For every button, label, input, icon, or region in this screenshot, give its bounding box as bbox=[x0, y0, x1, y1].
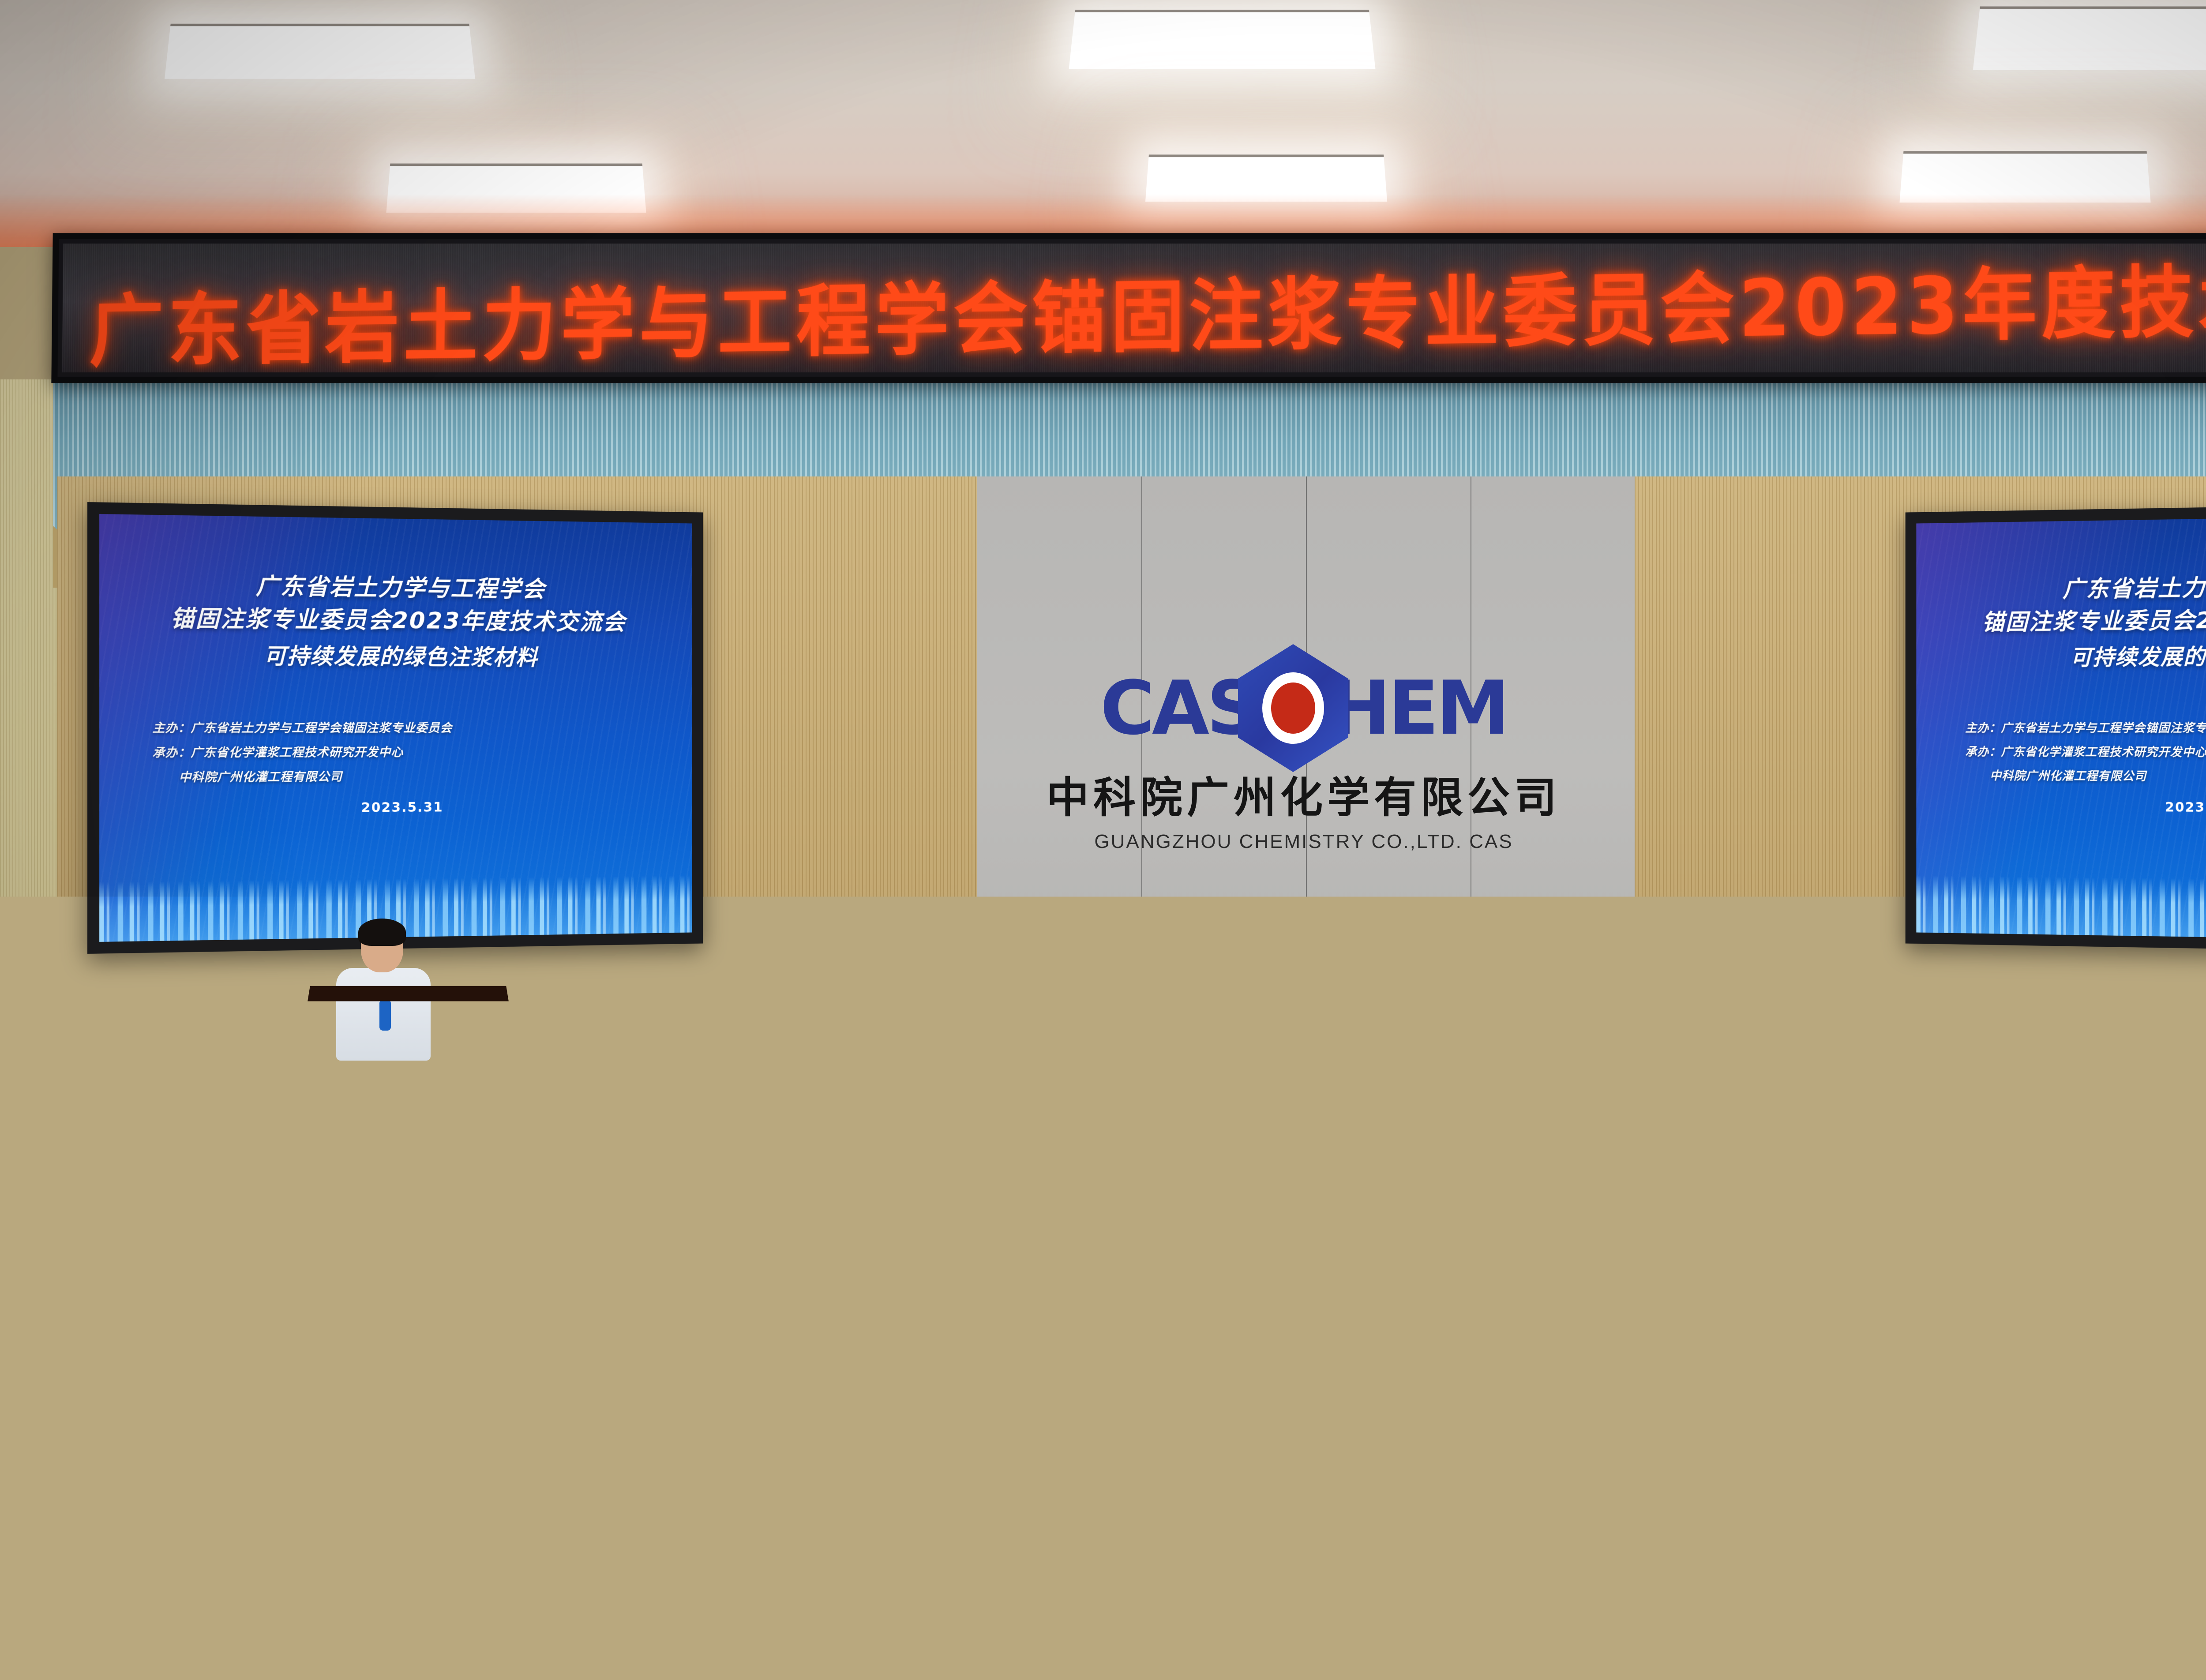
ceiling-light-1 bbox=[165, 24, 475, 79]
ceiling bbox=[0, 0, 2206, 247]
slide-organizer-2: 中科院广州化灌工程有限公司 bbox=[152, 764, 664, 791]
audience-head-3 bbox=[1068, 1394, 1156, 1504]
slide-subtitle: 可持续发展的绿色注浆材料 bbox=[264, 640, 538, 674]
slide-date: 2023.5.31 bbox=[130, 798, 664, 817]
projection-screen-right: 广东省岩土力学与工程学会 锚固注浆专业委员会2023年度技术交流会 可持续发展的… bbox=[1906, 502, 2206, 954]
podium-logo-text: CASCHEM bbox=[335, 1119, 481, 1138]
slide-title-line1-r: 广东省岩土力学与工程学会 bbox=[2063, 570, 2206, 606]
audience-head-1 bbox=[304, 1407, 388, 1509]
audience-head-4 bbox=[1712, 1403, 1796, 1504]
attendee-head-4 bbox=[1134, 1244, 1235, 1376]
attendee-head-2 bbox=[521, 1253, 618, 1385]
slide-meta-left: 主办：广东省岩土力学与工程学会锚固注浆专业委员会 承办：广东省化学灌浆工程技术研… bbox=[130, 716, 664, 790]
ceiling-light-2 bbox=[1069, 10, 1376, 69]
seat-label: 1排-14 bbox=[26, 1480, 203, 1493]
attendee-head-5 bbox=[1452, 1235, 1553, 1376]
seat-row1-14[interactable]: 1排-14 bbox=[26, 1376, 203, 1522]
slide-date-r: 2023.5.31 bbox=[1945, 798, 2206, 817]
ceiling-light-5 bbox=[1145, 154, 1387, 202]
water-bottle-2 bbox=[2030, 1271, 2047, 1319]
hexagon-c-icon bbox=[1238, 644, 1348, 772]
slide-content-right: 广东省岩土力学与工程学会 锚固注浆专业委员会2023年度技术交流会 可持续发展的… bbox=[1916, 514, 2206, 942]
logo-text-hem: HEM bbox=[1329, 671, 1508, 745]
slide-host-r: 主办：广东省岩土力学与工程学会锚固注浆专业委员会 bbox=[1965, 716, 2206, 740]
slide-organizer-2-r: 中科院广州化灌工程有限公司 bbox=[1965, 764, 2206, 791]
logo-text-cas: CAS bbox=[1100, 671, 1257, 745]
presenter-hair bbox=[358, 919, 406, 946]
slide-organizer-r: 承办：广东省化学灌浆工程技术研究开发中心 bbox=[1965, 740, 2206, 765]
slide-organizer: 承办：广东省化学灌浆工程技术研究开发中心 bbox=[152, 740, 664, 765]
seat-row1-7[interactable] bbox=[2065, 1374, 2206, 1520]
slide-host: 主办：广东省岩土力学与工程学会锚固注浆专业委员会 bbox=[152, 716, 664, 740]
seat-row1-13[interactable]: 1排-13 bbox=[441, 1376, 618, 1522]
slide-meta-right: 主办：广东省岩土力学与工程学会锚固注浆专业委员会 承办：广东省化学灌浆工程技术研… bbox=[1945, 716, 2206, 790]
water-bottle-1 bbox=[922, 1266, 940, 1315]
stage-floor bbox=[0, 1108, 2206, 1267]
led-banner-text: 广东省岩土力学与工程学会锚固注浆专业委员会2023年度技术交流会 bbox=[89, 244, 2206, 372]
caschem-logotype: CAS HEM bbox=[1028, 657, 1579, 759]
conference-hall-scene: CAS HEM 中科院广州化学有限公司 GUANGZHOU CHEMISTRY … bbox=[0, 0, 2206, 1680]
slide-subtitle-r: 可持续发展的绿色注浆材料 bbox=[2070, 640, 2206, 674]
slide-title-line2: 锚固注浆专业委员会2023年度技术交流会 bbox=[170, 603, 626, 639]
attendee-head-1 bbox=[194, 1249, 296, 1381]
seat-row4-7[interactable] bbox=[2078, 1659, 2206, 1680]
attendee-head-7 bbox=[2082, 1240, 2184, 1381]
seat-row4-9[interactable]: 4排-9 bbox=[1134, 1654, 1363, 1680]
podium-logo-cn: 中科化学 bbox=[335, 1156, 481, 1185]
company-name-cn: 中科院广州化学有限公司 bbox=[1047, 763, 1561, 825]
audience-head-2 bbox=[768, 1403, 852, 1504]
seat-label: 2排-13 bbox=[190, 1575, 379, 1587]
ceiling-light-6 bbox=[1899, 151, 2150, 202]
seat-row3-12[interactable]: 3排-12 bbox=[0, 1557, 190, 1680]
seat-row4-8[interactable]: 4排-8 bbox=[1606, 1657, 1835, 1680]
ceiling-light-4 bbox=[386, 164, 646, 213]
attendee-head-3 bbox=[768, 1244, 869, 1376]
caschem-wall-logo: CAS HEM 中科院广州化学有限公司 GUANGZHOU CHEMISTRY … bbox=[1028, 657, 1579, 904]
seat-row3-11[interactable]: 3排-11 bbox=[419, 1553, 627, 1680]
attendee-head-6 bbox=[1796, 1244, 1897, 1381]
seat-label: 2排-12 bbox=[618, 1570, 807, 1583]
audience-head-7 bbox=[1694, 1496, 1782, 1610]
seat-label: 1排-9 bbox=[1257, 1476, 1434, 1489]
seat-label: 1排-13 bbox=[441, 1480, 618, 1493]
seat-label: 1排-11 bbox=[838, 1476, 1015, 1489]
led-panel: 广东省岩土力学与工程学会锚固注浆专业委员会2023年度技术交流会 bbox=[62, 244, 2206, 372]
name-card-2: 张广 bbox=[1712, 1301, 1800, 1340]
company-name-en: GUANGZHOU CHEMISTRY CO.,LTD. CAS bbox=[1094, 831, 1513, 853]
projection-screen-left: 广东省岩土力学与工程学会 锚固注浆专业委员会2023年度技术交流会 可持续发展的… bbox=[87, 502, 703, 954]
slide-title-line2-r: 锚固注浆专业委员会2023年度技术交流会 bbox=[1982, 603, 2206, 639]
slide-content-left: 广东省岩土力学与工程学会 锚固注浆专业委员会2023年度技术交流会 可持续发展的… bbox=[99, 514, 692, 942]
slide-title-line1: 广东省岩土力学与工程学会 bbox=[256, 570, 546, 606]
led-banner: 广东省岩土力学与工程学会锚固注浆专业委员会2023年度技术交流会 bbox=[51, 233, 2206, 383]
seat-row1-11[interactable]: 1排-11 bbox=[838, 1372, 1015, 1518]
pa-speaker-left bbox=[150, 1028, 243, 1134]
ceiling-light-3 bbox=[1973, 7, 2206, 70]
audience-head-6 bbox=[1244, 1491, 1339, 1610]
speaker-tripod-left bbox=[195, 1134, 197, 1275]
